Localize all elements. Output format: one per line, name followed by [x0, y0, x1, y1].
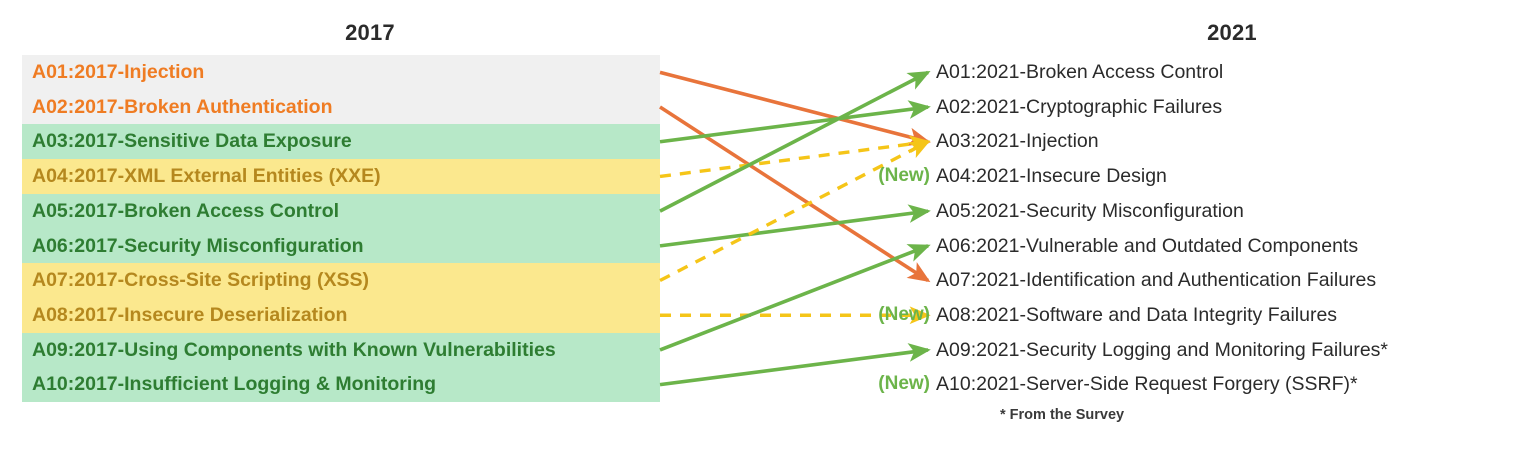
list-item-2021-a10[interactable]: A10:2021-Server-Side Request Forgery (SS… [936, 367, 1358, 402]
footnote-from-the-survey: * From the Survey [1000, 407, 1124, 423]
arrow-6-to-5 [660, 211, 928, 246]
list-2021: A01:2021-Broken Access ControlA02:2021-C… [936, 55, 1536, 403]
list-item-2021-a02[interactable]: A02:2021-Cryptographic Failures [936, 90, 1222, 125]
owasp-mapping-diagram: 2017 2021 A01:2017-InjectionA02:2017-Bro… [0, 0, 1536, 457]
list-item-2017-a07[interactable]: A07:2017-Cross-Site Scripting (XSS) [32, 263, 369, 298]
new-badge-a04: (New) [840, 159, 930, 194]
list-item-2017-a06[interactable]: A06:2017-Security Misconfiguration [32, 229, 364, 264]
column-header-2017: 2017 [240, 20, 500, 46]
list-item-2017-a09[interactable]: A09:2017-Using Components with Known Vul… [32, 333, 556, 368]
new-badge-a10: (New) [840, 367, 930, 402]
list-item-2017-a03[interactable]: A03:2017-Sensitive Data Exposure [32, 124, 352, 159]
new-badge-a08: (New) [840, 298, 930, 333]
list-item-2021-a06[interactable]: A06:2021-Vulnerable and Outdated Compone… [936, 229, 1358, 264]
list-item-2021-a09[interactable]: A09:2021-Security Logging and Monitoring… [936, 333, 1388, 368]
list-item-2017-a04[interactable]: A04:2017-XML External Entities (XXE) [32, 159, 381, 194]
arrow-2-to-7 [660, 107, 928, 280]
arrow-1-to-3 [660, 72, 928, 141]
list-item-2021-a08[interactable]: A08:2021-Software and Data Integrity Fai… [936, 298, 1337, 333]
list-item-2021-a01[interactable]: A01:2021-Broken Access Control [936, 55, 1223, 90]
list-item-2021-a03[interactable]: A03:2021-Injection [936, 124, 1099, 159]
list-item-2017-a01[interactable]: A01:2017-Injection [32, 55, 204, 90]
list-item-2017-a08[interactable]: A08:2017-Insecure Deserialization [32, 298, 347, 333]
list-item-2021-a05[interactable]: A05:2021-Security Misconfiguration [936, 194, 1244, 229]
list-item-2021-a04[interactable]: A04:2021-Insecure Design [936, 159, 1167, 194]
list-item-2017-a10[interactable]: A10:2017-Insufficient Logging & Monitori… [32, 367, 436, 402]
list-item-2017-a05[interactable]: A05:2017-Broken Access Control [32, 194, 339, 229]
list-2017: A01:2017-InjectionA02:2017-Broken Authen… [22, 55, 660, 403]
list-item-2017-a02[interactable]: A02:2017-Broken Authentication [32, 90, 333, 125]
arrow-3-to-2 [660, 107, 928, 142]
column-header-2021: 2021 [1102, 20, 1362, 46]
list-item-2021-a07[interactable]: A07:2021-Identification and Authenticati… [936, 263, 1376, 298]
